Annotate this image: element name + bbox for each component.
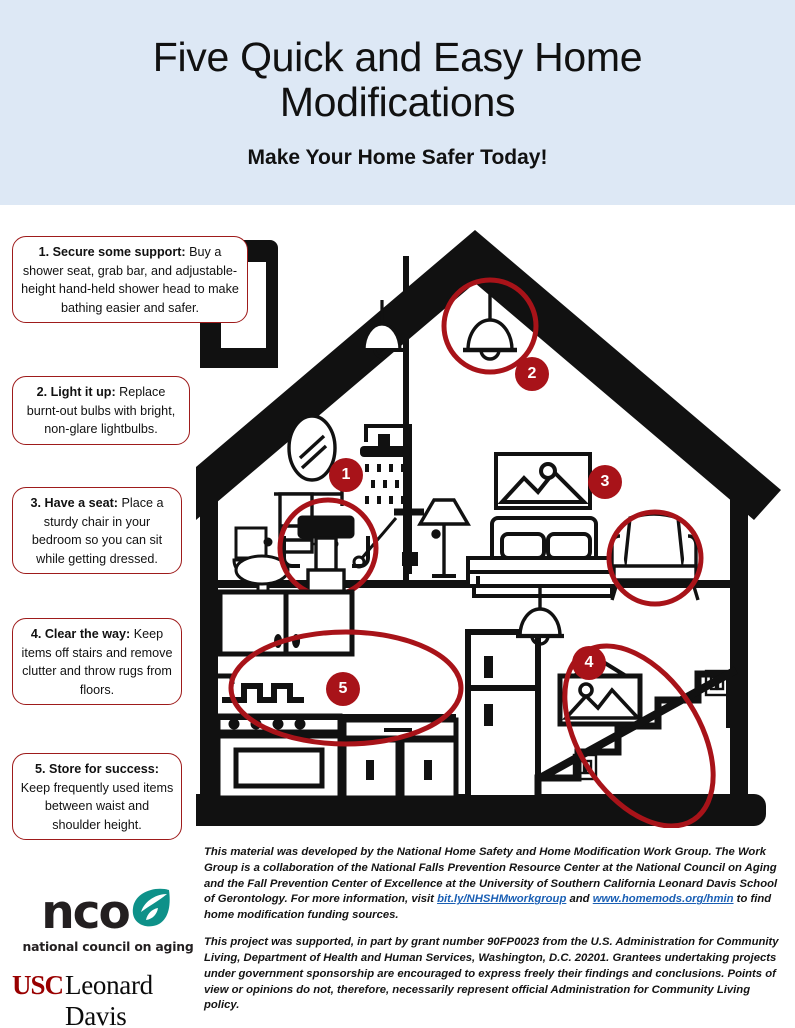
usc-letters: USC <box>12 970 63 1001</box>
footer-p1-mid: and <box>566 893 592 905</box>
poster-root: Five Quick and Easy Home Modifications M… <box>0 0 795 1028</box>
ncoa-letters: nco <box>41 892 129 934</box>
tip-4-lead: 4. Clear the way: <box>31 627 130 641</box>
living-scene <box>516 588 736 800</box>
footer-text: This material was developed by the Natio… <box>204 845 782 1014</box>
logo-group: nco national council on aging USC Leonar… <box>12 884 204 1028</box>
upper-cabinets-icon <box>220 592 352 654</box>
tip-5-lead: 5. Store for success: <box>35 762 159 776</box>
bitly-link[interactable]: bit.ly/NHSHMworkgroup <box>437 893 566 905</box>
bedroom-scene <box>420 454 698 600</box>
footer-paragraph-2: This project was supported, in part by g… <box>204 935 782 1014</box>
tip-1-lead: 1. Secure some support: <box>39 245 186 259</box>
tip-box-5: 5. Store for success: Keep frequently us… <box>12 753 182 840</box>
ncoa-leaf-icon <box>127 884 175 930</box>
footer-paragraph-1: This material was developed by the Natio… <box>204 845 782 924</box>
tip-5-body: Keep frequently used items between waist… <box>21 781 174 832</box>
bed-icon <box>468 518 618 596</box>
house-illustration <box>196 228 795 828</box>
refrigerator-icon <box>468 632 538 798</box>
badge-2: 2 <box>515 357 549 391</box>
badge-3: 3 <box>588 465 622 499</box>
usc-wordmark: USC Leonard Davis <box>12 970 204 1028</box>
homemods-link[interactable]: www.homemods.org/hmin <box>593 893 734 905</box>
tip-box-2: 2. Light it up: Replace burnt-out bulbs … <box>12 376 190 445</box>
ncoa-tagline: national council on aging <box>22 939 193 954</box>
roof-icon <box>196 230 781 520</box>
shower-water-icon <box>367 464 403 504</box>
badge-4: 4 <box>572 646 606 680</box>
mirror-icon <box>289 416 335 480</box>
framed-picture-icon <box>496 454 590 508</box>
page-subtitle: Make Your Home Safer Today! <box>248 146 548 170</box>
ncoa-wordmark: nco <box>41 884 175 934</box>
tip-box-1: 1. Secure some support: Buy a shower sea… <box>12 236 248 323</box>
leonard-davis-letters: Leonard Davis <box>65 970 204 1028</box>
tip-2-lead: 2. Light it up: <box>37 385 116 399</box>
page-title: Five Quick and Easy Home Modifications <box>78 35 718 124</box>
floor-lamp-icon <box>420 500 468 576</box>
usc-leonard-davis-logo: USC Leonard Davis School of Gerontology <box>12 970 204 1028</box>
ncoa-logo: nco national council on aging <box>12 884 204 954</box>
badge-1: 1 <box>329 458 363 492</box>
tip-3-lead: 3. Have a seat: <box>30 496 118 510</box>
badge-5: 5 <box>326 672 360 706</box>
poster-header: Five Quick and Easy Home Modifications M… <box>0 0 795 205</box>
shower-slide-bar-icon <box>394 460 424 574</box>
drawers-icon <box>344 720 456 798</box>
kitchen-scene <box>218 592 538 798</box>
tip-box-4: 4. Clear the way: Keep items off stairs … <box>12 618 182 705</box>
tip-box-3: 3. Have a seat: Place a sturdy chair in … <box>12 487 182 574</box>
